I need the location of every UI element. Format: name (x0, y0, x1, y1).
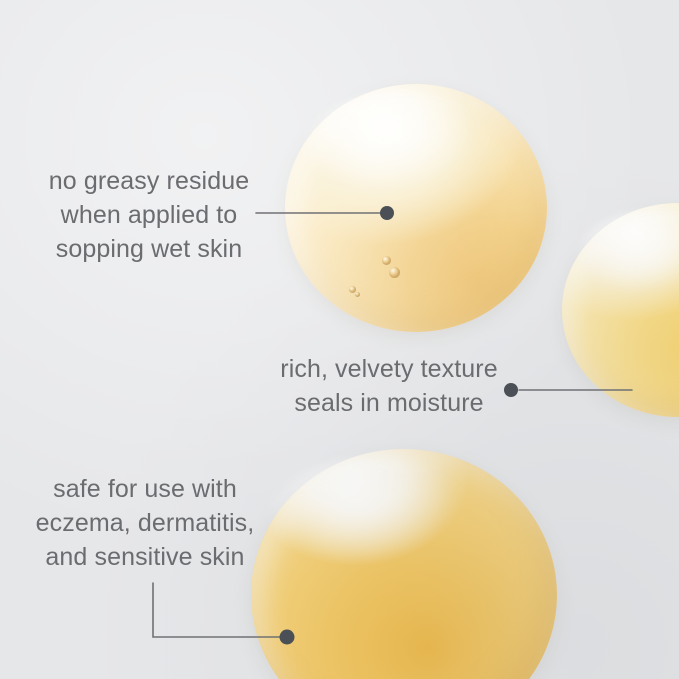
callout-line: sopping wet skin (34, 232, 264, 266)
top-oil-droplet-highlight (303, 92, 499, 210)
callout-line: safe for use with (34, 472, 256, 506)
product-feature-image: no greasy residue when applied to soppin… (0, 0, 679, 679)
callout-line: no greasy residue (34, 164, 264, 198)
callout-line: when applied to (34, 198, 264, 232)
bottom-oil-droplet-highlight (268, 458, 482, 584)
oil-bubble (355, 292, 360, 297)
callout-line: eczema, dermatitis, (34, 506, 256, 540)
callout-no-greasy-residue: no greasy residue when applied to soppin… (34, 164, 264, 266)
oil-bubble (389, 267, 400, 278)
leader-dot-rich-velvety-texture (504, 383, 518, 397)
callout-line: seals in moisture (272, 386, 506, 420)
callout-rich-velvety-texture: rich, velvety texture seals in moisture (272, 352, 506, 420)
oil-bubble (382, 256, 391, 265)
callout-safe-for-sensitive-skin: safe for use with eczema, dermatitis, an… (34, 472, 256, 574)
callout-line: and sensitive skin (34, 540, 256, 574)
callout-line: rich, velvety texture (272, 352, 506, 386)
